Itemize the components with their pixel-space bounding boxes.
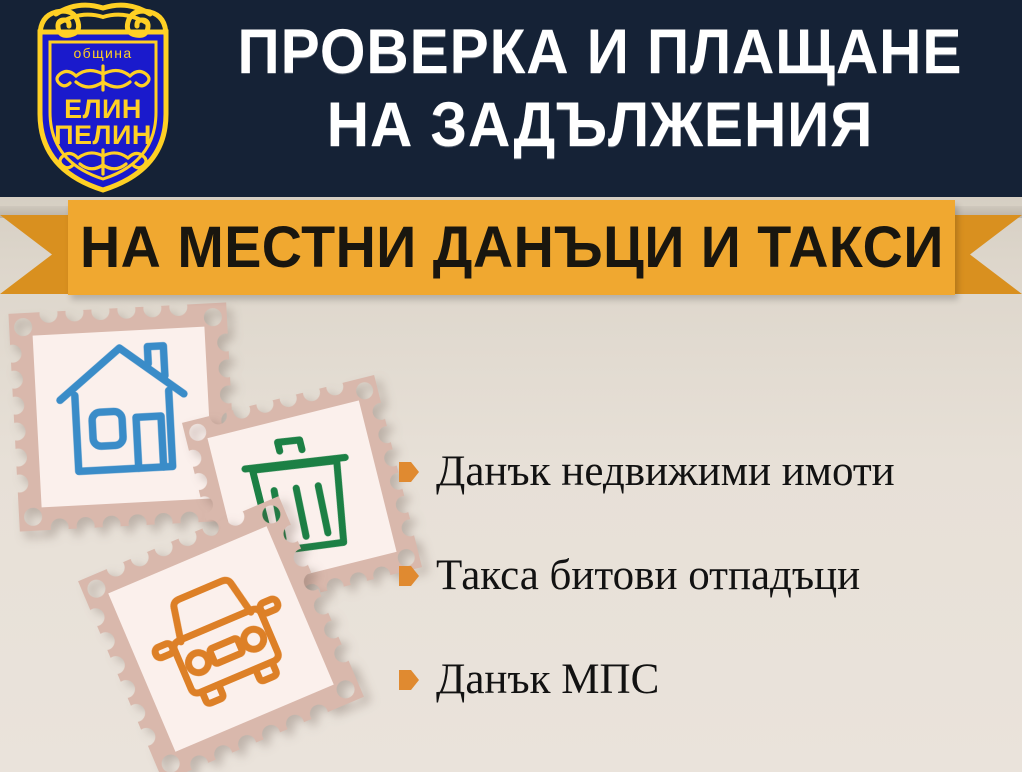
bullet-arrow-icon (398, 667, 420, 693)
crest-municipality-word: община (73, 45, 132, 61)
list-item[interactable]: Данък МПС (398, 628, 1022, 732)
list-item[interactable]: Такса битови отпадъци (398, 524, 1022, 628)
bullet-arrow-icon (398, 459, 420, 485)
ribbon-subtitle: НА МЕСТНИ ДАНЪЦИ И ТАКСИ (80, 219, 944, 277)
page-title: ПРОВЕРКА И ПЛАЩАНЕ НА ЗАДЪЛЖЕНИЯ (214, 16, 986, 162)
tax-types-list: Данък недвижими имоти Такса битови отпад… (398, 420, 1022, 732)
list-item-label: Данък недвижими имоти (436, 448, 895, 496)
ribbon-banner: НА МЕСТНИ ДАНЪЦИ И ТАКСИ (0, 196, 1022, 308)
crest-name-line-2: ПЕЛИН (54, 120, 152, 150)
list-item-label: Такса битови отпадъци (436, 552, 860, 600)
ribbon-main-panel: НА МЕСТНИ ДАНЪЦИ И ТАКСИ (68, 200, 955, 295)
list-item[interactable]: Данък недвижими имоти (398, 420, 1022, 524)
stamp-illustration-group (0, 300, 420, 770)
list-item-label: Данък МПС (436, 656, 659, 704)
bullet-arrow-icon (398, 563, 420, 589)
poster-canvas: ПРОВЕРКА И ПЛАЩАНЕ НА ЗАДЪЛЖЕНИЯ община (0, 0, 1022, 772)
municipality-crest-logo: община ЕЛИН ПЕЛИН (18, 2, 188, 194)
